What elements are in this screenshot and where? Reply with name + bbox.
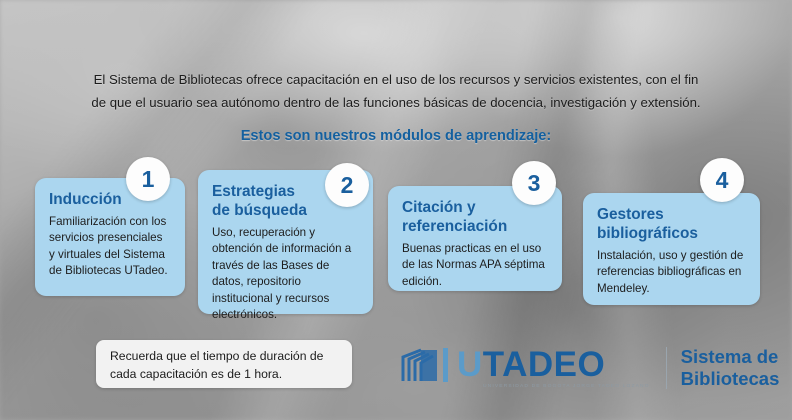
module-card-4[interactable]: Gestores bibliográficos Instalación, uso…	[583, 193, 760, 305]
utadeo-wordmark-text: UTADEO	[457, 347, 650, 382]
utadeo-wordmark: UTADEO UNIVERSIDAD DE BOGOTA JORGE TADEO…	[457, 347, 650, 389]
duration-note-line-1: Recuerda que el tiempo de duración de	[110, 348, 338, 366]
infographic-slide: El Sistema de Bibliotecas ofrece capacit…	[0, 0, 792, 420]
module-card-1[interactable]: Inducción Familiarización con los servic…	[35, 178, 185, 296]
module-card-4-title: Gestores bibliográficos	[597, 205, 746, 243]
logo-divider	[666, 347, 667, 389]
duration-note: Recuerda que el tiempo de duración de ca…	[96, 340, 352, 388]
module-card-1-body: Familiarización con los servicios presen…	[49, 214, 171, 280]
module-card-2-body: Uso, recuperación y obtención de informa…	[212, 225, 359, 323]
utadeo-tagline: UNIVERSIDAD DE BOGOTA JORGE TADEO LOZANO	[483, 384, 650, 389]
utadeo-logo-lockup: UTADEO UNIVERSIDAD DE BOGOTA JORGE TADEO…	[399, 340, 779, 396]
modules-subtitle: Estos son nuestros módulos de aprendizaj…	[44, 128, 748, 144]
module-card-4-body: Instalación, uso y gestión de referencia…	[597, 248, 746, 297]
module-badge-2: 2	[325, 163, 369, 207]
open-book-icon	[399, 344, 453, 393]
intro-paragraph: El Sistema de Bibliotecas ofrece capacit…	[44, 68, 748, 114]
duration-note-line-2: cada capacitación es de 1 hora.	[110, 366, 338, 384]
module-badge-4: 4	[700, 158, 744, 202]
utadeo-u-letter: U	[457, 345, 483, 384]
intro-line-2: de que el usuario sea autónomo dentro de…	[44, 91, 748, 114]
module-card-3-body: Buenas practicas en el uso de las Normas…	[402, 241, 548, 290]
intro-line-1: El Sistema de Bibliotecas ofrece capacit…	[44, 68, 748, 91]
utadeo-rest-letters: TADEO	[483, 345, 605, 384]
sistema-de-bibliotecas-label: Sistema de Bibliotecas	[681, 346, 780, 390]
module-badge-1: 1	[126, 157, 170, 201]
module-badge-3: 3	[512, 161, 556, 205]
